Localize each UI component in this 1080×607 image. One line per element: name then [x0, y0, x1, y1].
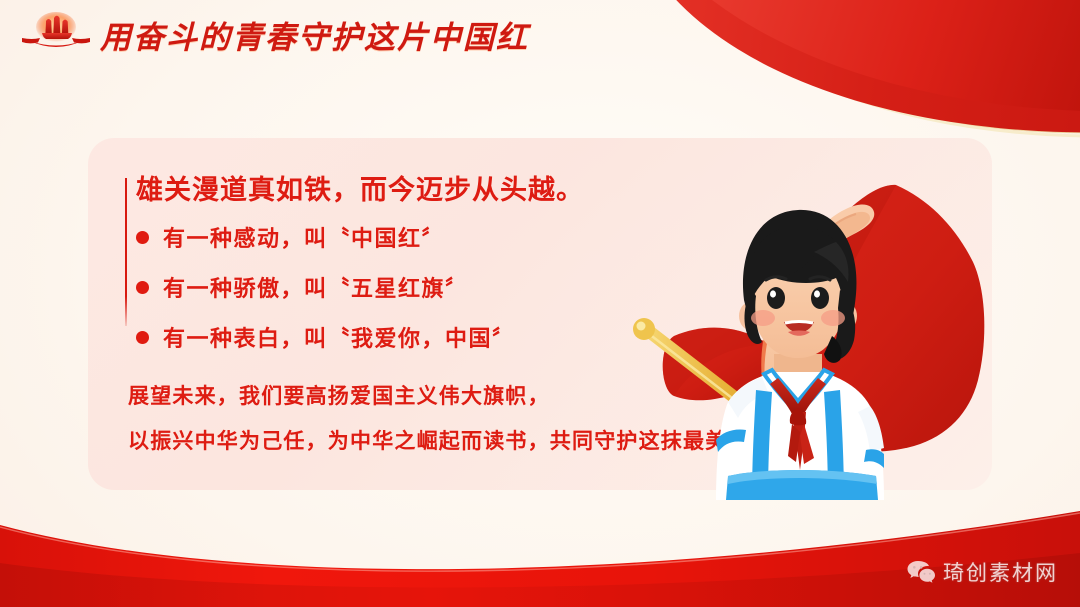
bullet-dot-icon: [136, 331, 149, 344]
list-item-label: 有一种感动，叫〝中国红〞: [163, 221, 445, 253]
bullet-dot-icon: [136, 231, 149, 244]
list-item-label: 有一种骄傲，叫〝五星红旗〞: [163, 271, 469, 303]
saluting-young-pioneer-illustration: [578, 140, 998, 500]
wechat-icon: [906, 559, 936, 585]
list-item-label: 有一种表白，叫〝我爱你，中国〞: [163, 321, 516, 353]
page-title: 用奋斗的青春守护这片中国红: [100, 12, 529, 57]
monument-emblem-icon: [18, 10, 94, 58]
slide-canvas: 用奋斗的青春守护这片中国红 雄关漫道真如铁，而今迈步从头越。 有一种感动，叫〝中…: [0, 0, 1080, 607]
watermark-label: 琦创素材网: [943, 557, 1058, 587]
slide-header: 用奋斗的青春守护这片中国红: [18, 10, 529, 58]
watermark: 琦创素材网: [906, 557, 1058, 587]
bullet-dot-icon: [136, 281, 149, 294]
left-accent-rule: [125, 178, 127, 326]
